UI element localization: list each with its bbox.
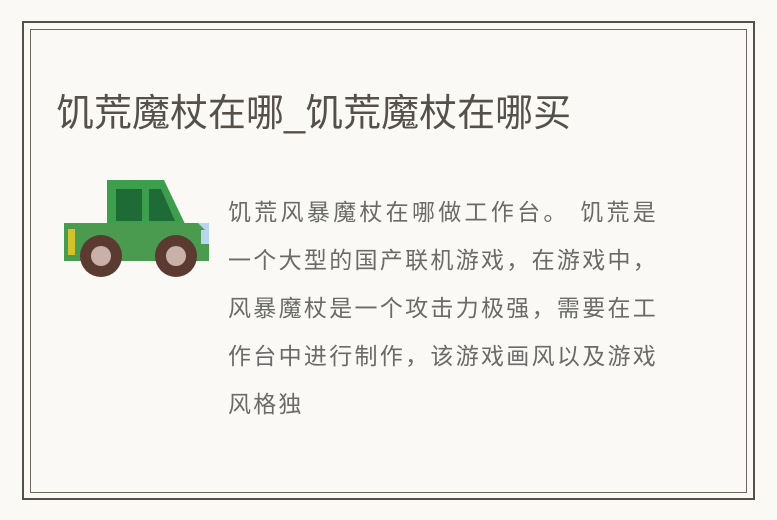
- article-body: 饥荒风暴魔杖在哪做工作台。 饥荒是一个大型的国产联机游戏，在游戏中，风暴魔杖是一…: [228, 189, 658, 429]
- article-content: 饥荒风暴魔杖在哪做工作台。 饥荒是一个大型的国产联机游戏，在游戏中，风暴魔杖是一…: [56, 160, 696, 420]
- article-page: 饥荒魔杖在哪_饥荒魔杖在哪买: [0, 0, 777, 520]
- page-title: 饥荒魔杖在哪_饥荒魔杖在哪买: [56, 91, 716, 137]
- green-pickup-truck-icon: [60, 168, 220, 278]
- truck-illustration: [60, 168, 220, 278]
